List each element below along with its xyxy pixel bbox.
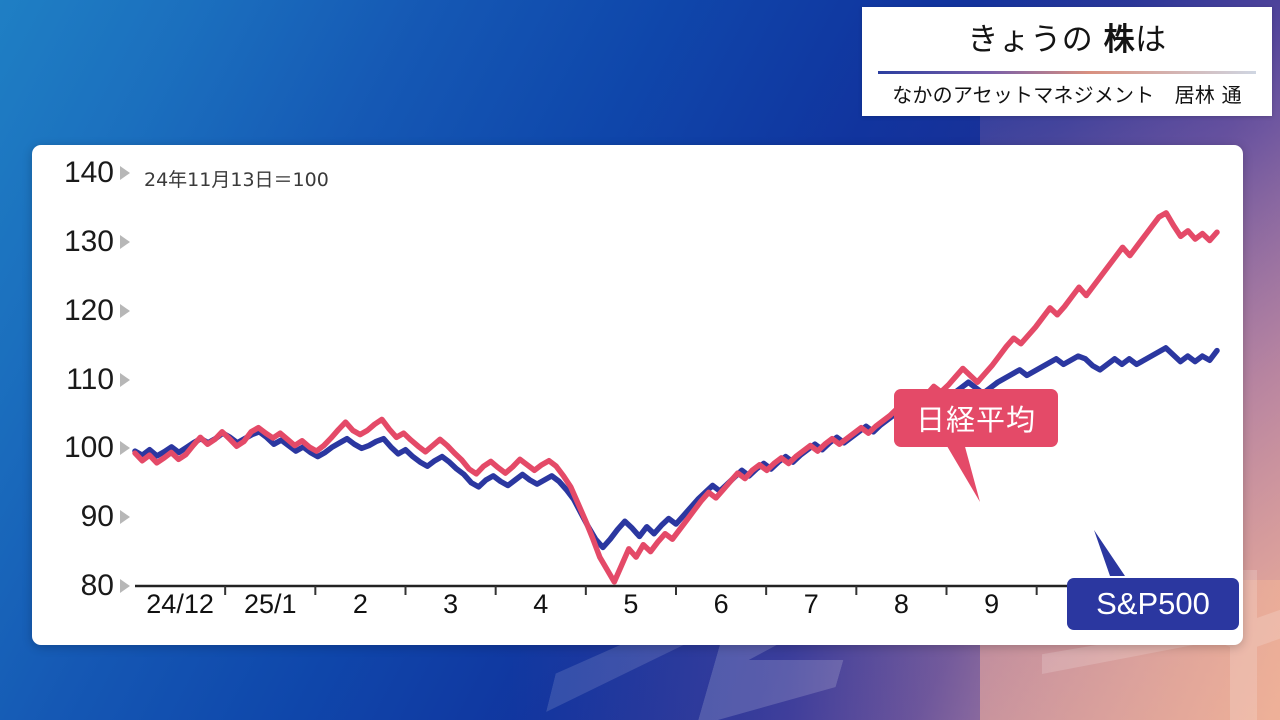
y-axis-tick-triangle-icon (120, 579, 130, 593)
x-axis-tick-label: 8 (894, 589, 909, 619)
x-axis-tick-1: 24/12 (146, 589, 214, 620)
x-axis-tick-label: 4 (533, 589, 548, 619)
y-axis-tick-label: 120 (64, 294, 114, 328)
y-axis-tick-triangle-icon (120, 235, 130, 249)
y-axis-tick-label: 100 (64, 431, 114, 465)
x-axis-tick-6: 5 (623, 589, 638, 620)
y-axis-tick-triangle-icon (120, 441, 130, 455)
y-axis-tick-triangle-icon (120, 373, 130, 387)
series-line-sp500 (135, 348, 1217, 548)
y-axis-tick-100: 100 (32, 435, 130, 461)
y-axis-tick-label: 140 (64, 156, 114, 190)
x-axis-tick-label: 3 (443, 589, 458, 619)
y-axis-tick-label: 90 (81, 500, 114, 534)
page-title-part2: は (1135, 22, 1167, 58)
y-axis-tick-label: 80 (81, 569, 114, 603)
page-title-part1: きょうの (967, 22, 1103, 58)
y-axis-tick-80: 80 (32, 573, 130, 599)
broadcast-graphic: きょうの 株は なかのアセットマネジメント 居林 通 24年11月13日＝100… (0, 0, 1280, 720)
y-axis-tick-label: 130 (64, 225, 114, 259)
x-axis-tick-2: 25/1 (244, 589, 297, 620)
x-axis-tick-label: 24/12 (146, 589, 214, 619)
x-axis-tick-label: 6 (714, 589, 729, 619)
x-axis-tick-label: 25/1 (244, 589, 297, 619)
x-axis-tick-label: 2 (353, 589, 368, 619)
x-axis-tick-label: 9 (984, 589, 999, 619)
callout-sp500: S&P500 (1067, 578, 1239, 630)
y-axis-tick-110: 110 (32, 367, 130, 393)
x-axis-tick-3: 2 (353, 589, 368, 620)
y-axis-tick-triangle-icon (120, 304, 130, 318)
x-axis-tick-10: 9 (984, 589, 999, 620)
page-title: きょうの 株は (862, 7, 1272, 71)
page-title-keyword: 株 (1104, 22, 1136, 58)
y-axis-tick-triangle-icon (120, 510, 130, 524)
chart-panel: 24年11月13日＝100 8090100110120130140 24/122… (32, 145, 1243, 645)
y-axis-tick-90: 90 (32, 504, 130, 530)
program-subtitle: なかのアセットマネジメント 居林 通 (862, 74, 1272, 116)
chart-base-note: 24年11月13日＝100 (144, 165, 329, 192)
y-axis-tick-130: 130 (32, 229, 130, 255)
x-axis-tick-8: 7 (804, 589, 819, 620)
x-axis-tick-7: 6 (714, 589, 729, 620)
y-axis-tick-label: 110 (66, 363, 114, 397)
y-axis-tick-triangle-icon (120, 166, 130, 180)
x-axis-tick-4: 3 (443, 589, 458, 620)
y-axis-tick-140: 140 (32, 160, 130, 186)
x-axis-tick-5: 4 (533, 589, 548, 620)
callout-nikkei: 日経平均 (894, 389, 1058, 447)
program-title-card: きょうの 株は なかのアセットマネジメント 居林 通 (862, 7, 1272, 116)
y-axis-tick-120: 120 (32, 298, 130, 324)
x-axis-tick-label: 5 (623, 589, 638, 619)
x-axis-tick-label: 7 (804, 589, 819, 619)
x-axis-tick-9: 8 (894, 589, 909, 620)
line-chart-plot (32, 145, 1243, 645)
